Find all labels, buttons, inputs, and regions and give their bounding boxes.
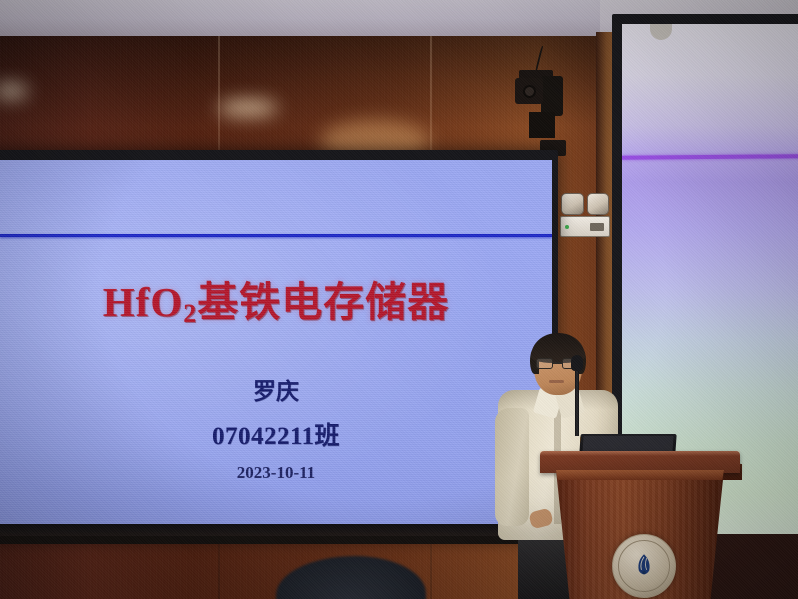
emergency-light-housing <box>560 216 610 237</box>
slide-title: HfO2基铁电存储器 <box>0 268 552 328</box>
emblem-mark-icon <box>631 551 657 577</box>
presenter-mouth <box>549 380 564 383</box>
camera-cable-icon <box>535 46 544 72</box>
presentation-photo-scene: HfO2基铁电存储器 罗庆 07042211班 2023-10-11 <box>0 0 798 599</box>
lamp-icon <box>561 193 584 215</box>
wall-camera <box>505 46 575 138</box>
glasses-bridge <box>553 362 562 364</box>
slide-date: 2023-10-11 <box>0 463 552 483</box>
presenter-arm <box>495 408 529 526</box>
slide-class: 07042211班 <box>0 416 552 452</box>
lamp-icon <box>587 193 610 215</box>
camera-bracket <box>529 112 555 138</box>
slide-title-subscript: 2 <box>183 299 197 328</box>
projection-screen: HfO2基铁电存储器 罗庆 07042211班 2023-10-11 <box>0 160 552 530</box>
podium-top <box>540 451 740 473</box>
glasses-lens-left <box>536 358 553 369</box>
microphone-stem <box>575 362 579 436</box>
emergency-light-label <box>590 223 604 231</box>
projection-screen-bezel: HfO2基铁电存储器 罗庆 07042211班 2023-10-11 <box>0 150 558 540</box>
laptop-screen <box>582 436 673 452</box>
secondary-screen-rule <box>622 154 798 160</box>
screen-notch <box>650 24 672 40</box>
led-indicator-icon <box>565 225 569 229</box>
slide-author: 罗庆 <box>0 372 552 406</box>
camera-mount <box>541 76 563 116</box>
camera-lens-icon <box>523 85 536 98</box>
slide-title-prefix: HfO <box>103 279 183 325</box>
university-emblem <box>612 534 676 598</box>
emergency-light-lamps <box>561 193 609 215</box>
microphone-icon <box>571 355 583 371</box>
slide-divider-rule <box>0 234 552 237</box>
slide-title-suffix: 基铁电存储器 <box>197 279 449 325</box>
podium-bevel <box>556 470 724 480</box>
emergency-light <box>560 193 610 239</box>
